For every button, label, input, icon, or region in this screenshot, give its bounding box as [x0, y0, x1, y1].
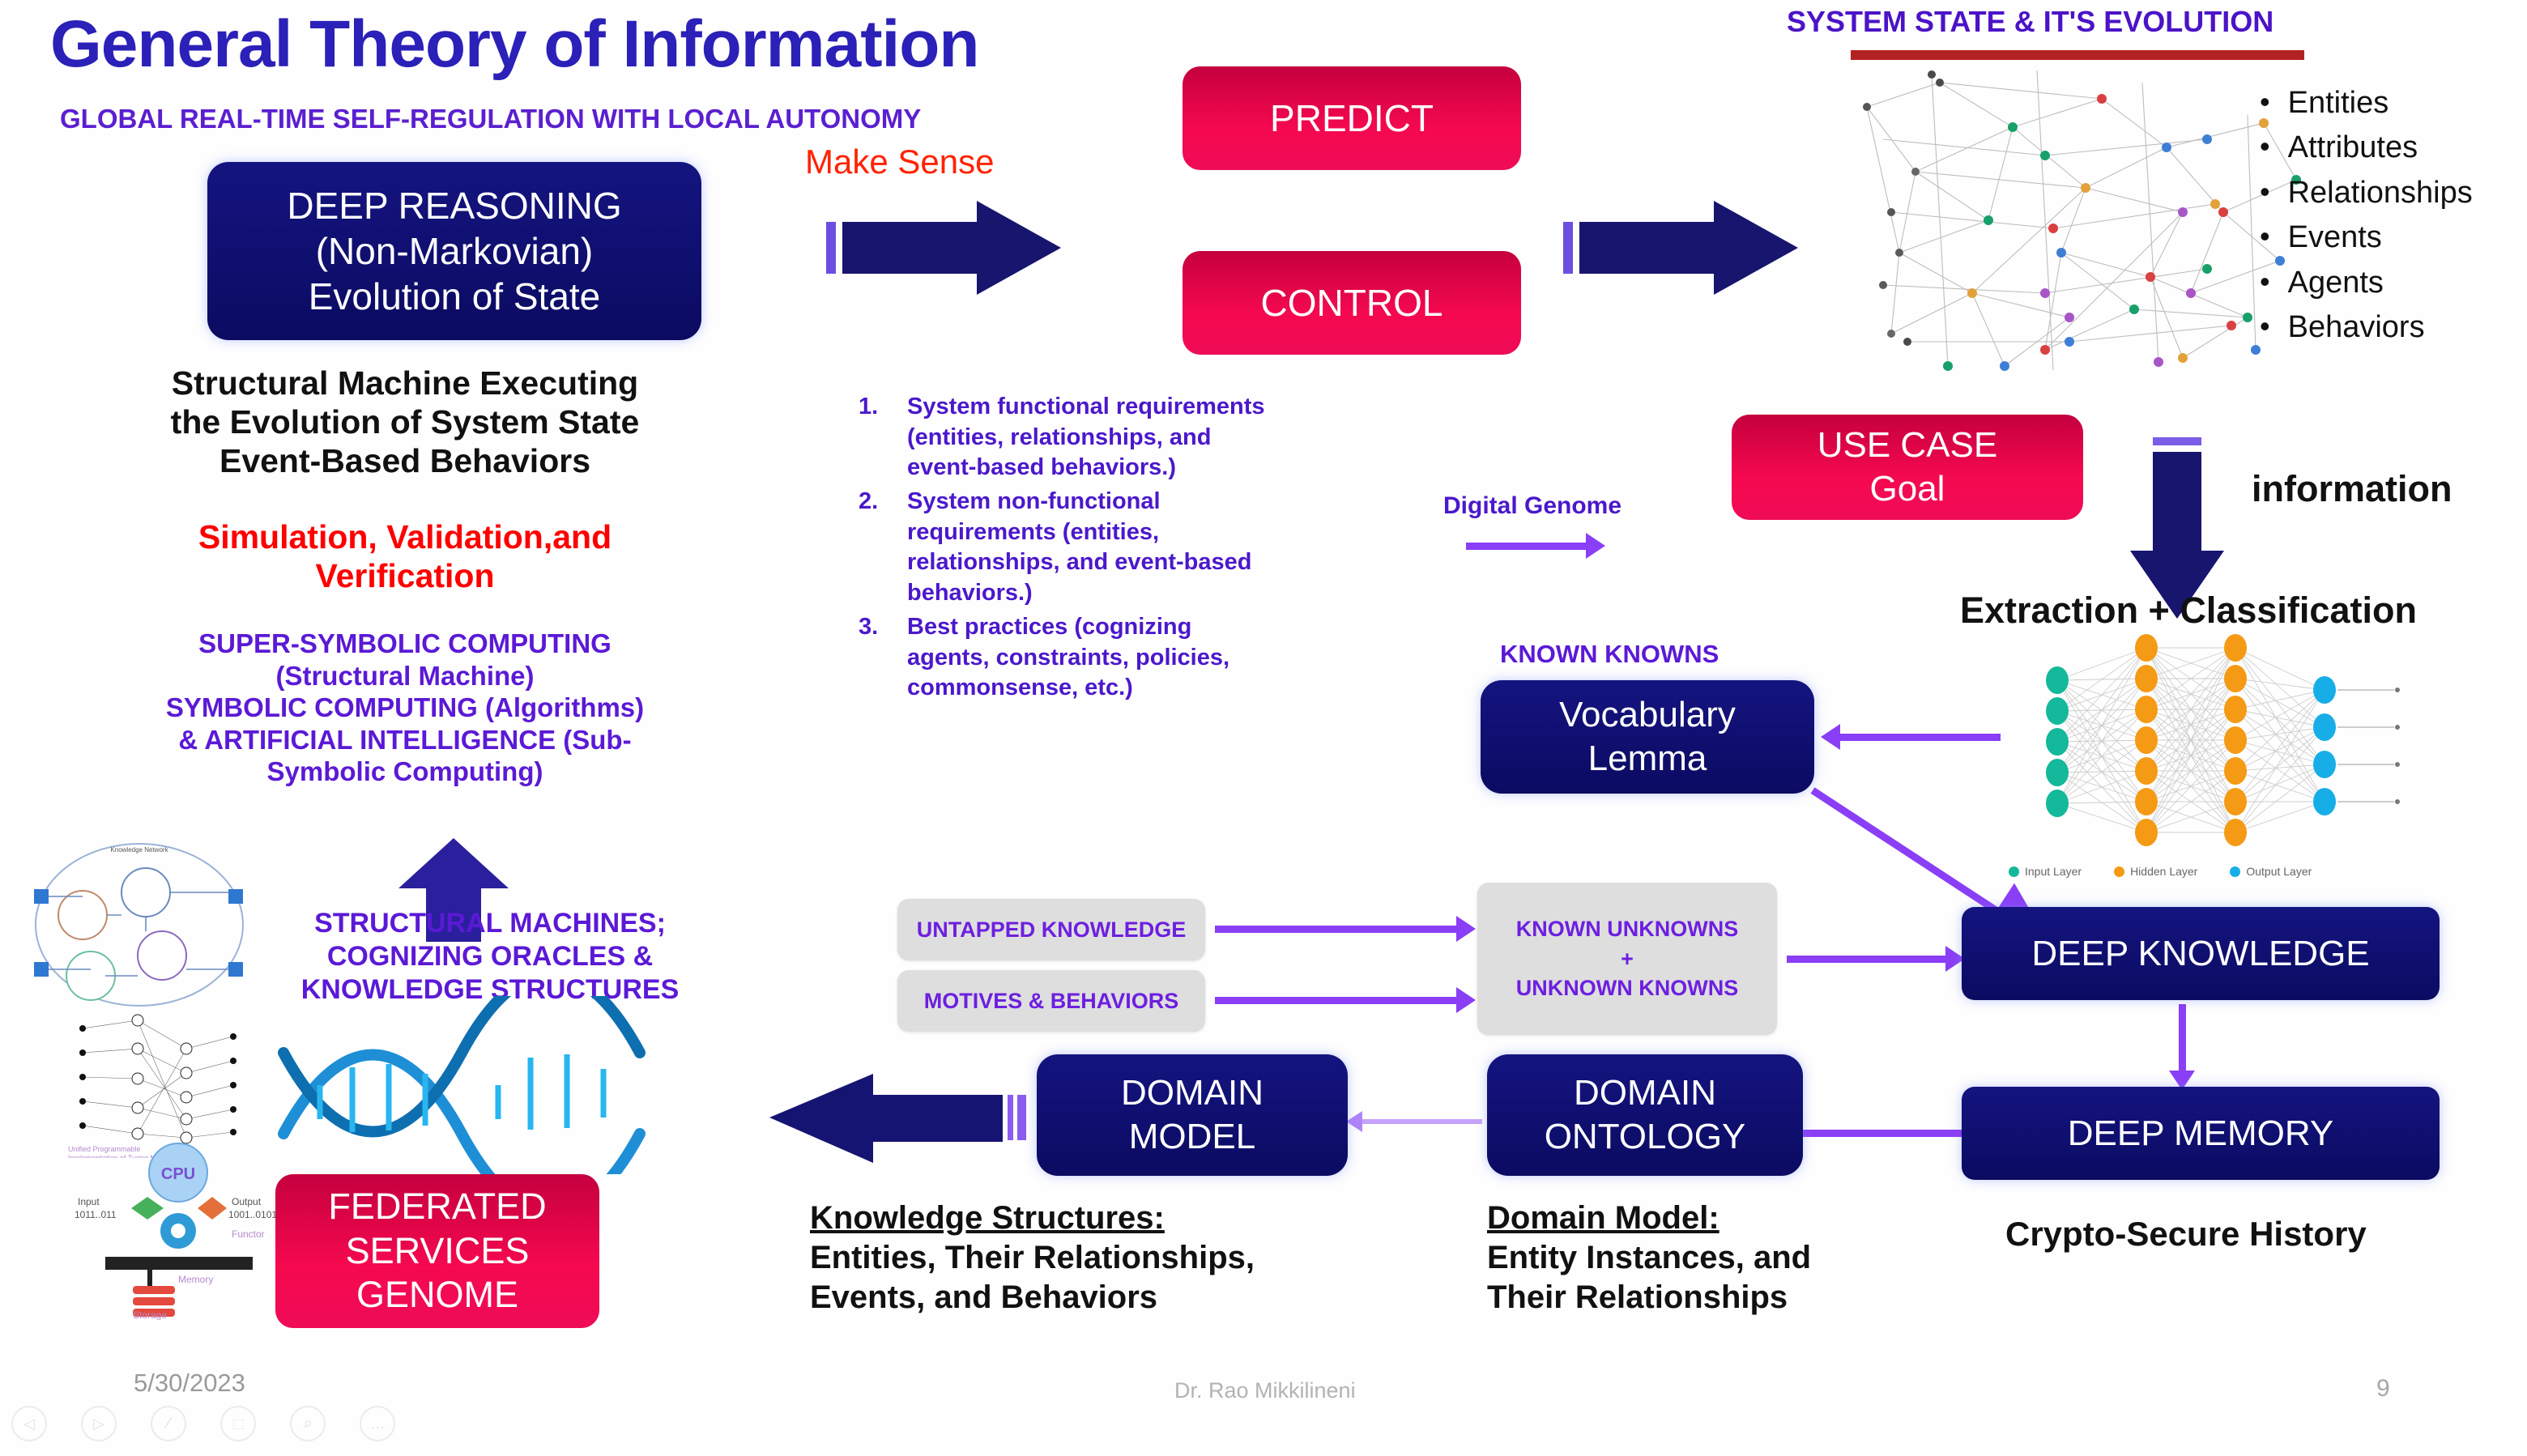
list-item: 3. Best practices (cognizing agents, con… — [859, 612, 1312, 704]
information-label: information — [2252, 468, 2452, 510]
zoom-tool-icon[interactable]: ⌕ — [290, 1406, 326, 1441]
deep-knowledge-to-memory-arrow-icon — [2179, 1004, 2186, 1074]
list-item: •Agents — [2260, 261, 2473, 305]
predict-box[interactable]: PREDICT — [1183, 66, 1521, 170]
slide-author: Dr. Rao Mikkilineni — [1174, 1378, 1356, 1403]
untapped-to-unknowns-arrow-icon — [1215, 926, 1458, 933]
requirements-list: 1. System functional requirements (entit… — [826, 392, 1312, 707]
svg-text:Memory: Memory — [178, 1274, 213, 1285]
list-text: System non-functional requirements (enti… — [907, 487, 1280, 609]
bullet-dot-icon: • — [2260, 171, 2270, 215]
deep-reasoning-box[interactable]: DEEP REASONING (Non-Markovian) Evolution… — [207, 162, 701, 340]
svg-text:CPU: CPU — [161, 1165, 195, 1183]
legend-hidden-layer: Hidden Layer — [2130, 865, 2197, 878]
deep-memory-box[interactable]: DEEP MEMORY — [1962, 1087, 2440, 1180]
svg-text:1001..0101: 1001..0101 — [228, 1209, 277, 1220]
slide-date: 5/30/2023 — [134, 1369, 245, 1398]
svg-text:Storage: Storage — [133, 1309, 167, 1320]
hidden-layer-swatch-icon — [2114, 866, 2124, 877]
domain-model-line1: DOMAIN — [1121, 1071, 1263, 1115]
presentation-toolbar[interactable]: ◁ ▷ ∕ ⬚ ⌕ … — [11, 1406, 395, 1441]
digital-genome-arrow-icon — [1466, 543, 1587, 550]
predict-label: PREDICT — [1270, 96, 1434, 141]
domain-model-caption: Domain Model: Entity Instances, and Thei… — [1487, 1198, 1908, 1317]
control-label: CONTROL — [1261, 280, 1443, 326]
slide-subtitle: GLOBAL REAL-TIME SELF-REGULATION WITH LO… — [60, 104, 921, 134]
known-unknowns-line1: KNOWN UNKNOWNS — [1516, 914, 1738, 943]
structural-machines-caption: STRUCTURAL MACHINES; COGNIZING ORACLES &… — [235, 907, 745, 1006]
output-layer-swatch-icon — [2230, 866, 2240, 877]
bullet-dot-icon: • — [2260, 126, 2270, 170]
all-slides-icon[interactable]: ⬚ — [220, 1406, 256, 1441]
system-state-network-graph — [1843, 50, 2329, 390]
list-item: •Relationships — [2260, 171, 2473, 215]
deep-memory-to-ontology-arrow-icon — [1775, 1130, 1962, 1137]
known-unknowns-box[interactable]: KNOWN UNKNOWNS + UNKNOWN KNOWNS — [1477, 883, 1777, 1035]
unknowns-to-deep-knowledge-arrow-icon — [1787, 956, 1947, 963]
extraction-classification-label: Extraction + Classification — [1960, 590, 2417, 632]
svg-text:1011..011: 1011..011 — [75, 1209, 117, 1220]
federated-line2: SERVICES — [328, 1229, 546, 1274]
list-text: Best practices (cognizing agents, constr… — [907, 612, 1280, 704]
make-sense-arrow-icon — [826, 193, 1069, 306]
more-options-icon[interactable]: … — [360, 1406, 395, 1441]
untapped-knowledge-box[interactable]: UNTAPPED KNOWLEDGE — [897, 899, 1205, 960]
list-number: 3. — [859, 612, 893, 704]
domain-ontology-box[interactable]: DOMAIN ONTOLOGY — [1487, 1054, 1803, 1176]
ontology-to-model-arrow-icon — [1361, 1119, 1482, 1124]
deep-knowledge-box[interactable]: DEEP KNOWLEDGE — [1962, 907, 2440, 1000]
cpu-architecture-thumbnail: CPU Input 1011..011 Output 1001..0101 Fu… — [73, 1134, 283, 1320]
digital-genome-label: Digital Genome — [1443, 492, 1621, 520]
federated-line3: GENOME — [328, 1273, 546, 1318]
state-arrow-icon — [1563, 193, 1806, 306]
federated-services-genome-box[interactable]: FEDERATED SERVICES GENOME — [275, 1174, 599, 1328]
list-number: 2. — [859, 487, 893, 609]
bullet-dot-icon: • — [2260, 261, 2270, 305]
domain-ontology-line2: ONTOLOGY — [1545, 1115, 1746, 1159]
list-item: •Attributes — [2260, 126, 2473, 170]
list-text: System functional requirements (entities… — [907, 392, 1280, 483]
list-number: 1. — [859, 392, 893, 483]
federated-line1: FEDERATED — [328, 1185, 546, 1229]
system-state-header: SYSTEM STATE & IT'S EVOLUTION — [1787, 5, 2273, 39]
list-item: •Behaviors — [2260, 305, 2473, 350]
caption-heading: Knowledge Structures: — [810, 1198, 1312, 1238]
list-item: 1. System functional requirements (entit… — [859, 392, 1312, 483]
known-unknowns-line2: + — [1516, 944, 1738, 973]
vocabulary-line2: Lemma — [1559, 737, 1736, 781]
svg-text:Output: Output — [232, 1196, 262, 1207]
list-item: •Entities — [2260, 81, 2473, 126]
next-slide-icon[interactable]: ▷ — [81, 1406, 117, 1441]
list-item: 2. System non-functional requirements (e… — [859, 487, 1312, 609]
structural-machine-heading: Structural Machine Executing the Evoluti… — [97, 364, 713, 481]
symbolic-computing-text: SUPER-SYMBOLIC COMPUTING (Structural Mac… — [105, 628, 705, 788]
simulation-validation-text: Simulation, Validation,and Verification — [97, 518, 713, 596]
nn-to-vocabulary-arrow-icon — [1839, 734, 2001, 741]
motives-behaviors-box[interactable]: MOTIVES & BEHAVIORS — [897, 970, 1205, 1032]
known-knowns-label: KNOWN KNOWNS — [1500, 640, 1719, 669]
svg-text:Knowledge Network: Knowledge Network — [110, 846, 168, 854]
knowledge-structures-caption: Knowledge Structures: Entities, Their Re… — [810, 1198, 1312, 1317]
svg-text:Functor: Functor — [232, 1228, 265, 1240]
deep-reasoning-line2: (Non-Markovian) — [287, 228, 621, 274]
bullet-dot-icon: • — [2260, 81, 2270, 126]
crypto-secure-history-label: Crypto-Secure History — [2005, 1215, 2367, 1254]
dna-helix-icon — [267, 996, 656, 1174]
make-sense-label: Make Sense — [805, 143, 994, 181]
bullet-dot-icon: • — [2260, 305, 2270, 350]
motives-to-unknowns-arrow-icon — [1215, 997, 1458, 1004]
domain-model-box[interactable]: DOMAIN MODEL — [1037, 1054, 1348, 1176]
deep-reasoning-line3: Evolution of State — [287, 274, 621, 319]
use-case-line2: Goal — [1817, 467, 1998, 511]
svg-text:Input: Input — [78, 1196, 100, 1207]
page-title: General Theory of Information — [50, 6, 978, 83]
knowledge-network-thumbnail: Knowledge Network — [16, 834, 259, 1020]
control-box[interactable]: CONTROL — [1183, 251, 1521, 355]
legend-output-layer: Output Layer — [2246, 865, 2312, 878]
domain-model-line2: MODEL — [1121, 1115, 1263, 1159]
known-unknowns-line3: UNKNOWN KNOWNS — [1516, 973, 1738, 1003]
pen-tool-icon[interactable]: ∕ — [151, 1406, 186, 1441]
vocabulary-lemma-box[interactable]: Vocabulary Lemma — [1481, 680, 1814, 794]
previous-slide-icon[interactable]: ◁ — [11, 1406, 47, 1441]
use-case-box[interactable]: USE CASE Goal — [1732, 415, 2083, 520]
list-item: •Events — [2260, 215, 2473, 260]
domain-model-output-arrow-icon — [760, 1067, 1027, 1169]
bullet-dot-icon: • — [2260, 215, 2270, 260]
system-state-bullet-list: •Entities •Attributes •Relationships •Ev… — [2260, 81, 2473, 351]
vocabulary-line1: Vocabulary — [1559, 693, 1736, 737]
deep-reasoning-line1: DEEP REASONING — [287, 183, 621, 228]
slide-page-number: 9 — [2376, 1375, 2390, 1403]
use-case-line1: USE CASE — [1817, 424, 1998, 467]
domain-ontology-line1: DOMAIN — [1545, 1071, 1746, 1115]
caption-heading: Domain Model: — [1487, 1198, 1908, 1238]
